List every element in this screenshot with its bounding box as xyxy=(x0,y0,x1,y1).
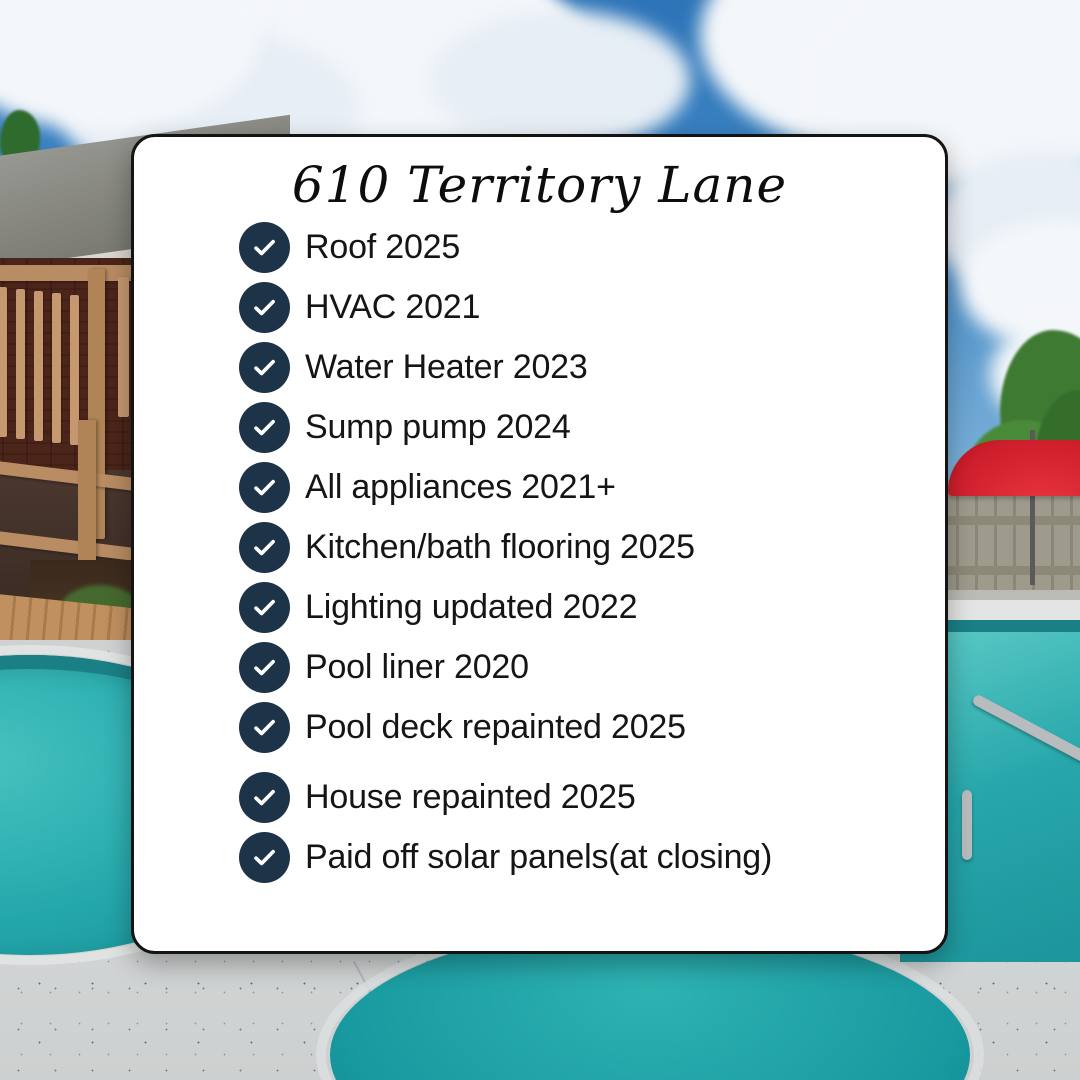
check-circle-icon xyxy=(239,832,290,883)
list-item-label: House repainted 2025 xyxy=(305,778,636,817)
list-item[interactable]: Pool deck repainted 2025 xyxy=(134,698,945,758)
list-item[interactable]: Lighting updated 2022 xyxy=(134,578,945,638)
list-item-label: Kitchen/bath flooring 2025 xyxy=(305,528,695,567)
list-item[interactable]: HVAC 2021 xyxy=(134,278,945,338)
deck-baluster xyxy=(16,289,25,439)
page-title: 610 Territory Lane xyxy=(134,159,945,212)
cloud xyxy=(430,10,690,150)
deck-baluster xyxy=(52,293,61,443)
feature-list-card: 610 Territory Lane Roof 2025 HVAC 2021 W… xyxy=(131,134,948,954)
list-item[interactable]: Roof 2025 xyxy=(134,218,945,278)
check-circle-icon xyxy=(239,462,290,513)
fence-rail xyxy=(940,516,1080,525)
check-circle-icon xyxy=(239,702,290,753)
list-item[interactable]: All appliances 2021+ xyxy=(134,458,945,518)
check-circle-icon xyxy=(239,282,290,333)
list-item-label: All appliances 2021+ xyxy=(305,468,616,507)
check-circle-icon xyxy=(239,582,290,633)
screenshot-canvas: 610 Territory Lane Roof 2025 HVAC 2021 W… xyxy=(0,0,1080,1080)
list-item[interactable]: Paid off solar panels(at closing) xyxy=(134,828,945,888)
fence-rail xyxy=(940,566,1080,575)
list-item[interactable]: House repainted 2025 xyxy=(134,768,945,828)
feature-list: Roof 2025 HVAC 2021 Water Heater 2023 Su… xyxy=(134,218,945,888)
list-item-label: Water Heater 2023 xyxy=(305,348,588,387)
check-circle-icon xyxy=(239,772,290,823)
check-circle-icon xyxy=(239,522,290,573)
deck-baluster xyxy=(34,291,43,441)
list-item[interactable]: Sump pump 2024 xyxy=(134,398,945,458)
pool-handrail-post xyxy=(962,790,972,860)
list-item[interactable]: Pool liner 2020 xyxy=(134,638,945,698)
list-item[interactable]: Kitchen/bath flooring 2025 xyxy=(134,518,945,578)
check-circle-icon xyxy=(239,642,290,693)
check-circle-icon xyxy=(239,222,290,273)
list-item-label: Pool deck repainted 2025 xyxy=(305,708,686,747)
deck-baluster xyxy=(118,277,129,417)
list-item-label: HVAC 2021 xyxy=(305,288,480,327)
check-circle-icon xyxy=(239,342,290,393)
list-item-label: Pool liner 2020 xyxy=(305,648,529,687)
list-item-label: Roof 2025 xyxy=(305,228,460,267)
list-item-label: Paid off solar panels(at closing) xyxy=(305,838,772,877)
list-item-label: Sump pump 2024 xyxy=(305,408,571,447)
deck-baluster xyxy=(0,287,7,437)
check-circle-icon xyxy=(239,402,290,453)
list-item[interactable]: Water Heater 2023 xyxy=(134,338,945,398)
list-item-label: Lighting updated 2022 xyxy=(305,588,637,627)
